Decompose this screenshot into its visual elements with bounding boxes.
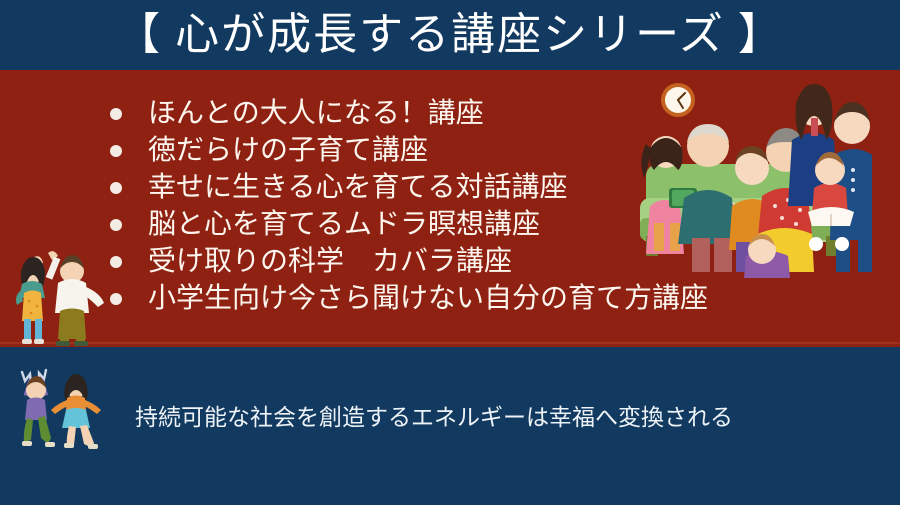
footer-caption: 持続可能な社会を創造するエネルギーは幸福へ変換される: [135, 406, 733, 429]
bullet-icon: [110, 145, 122, 157]
list-item[interactable]: 徳だらけの子育て講座: [110, 132, 708, 169]
list-item[interactable]: ほんとの大人になる！講座: [110, 95, 708, 132]
bullet-icon: [110, 108, 122, 120]
child-girl: [51, 374, 101, 449]
list-item[interactable]: 脳と心を育てるムドラ瞑想講座: [110, 206, 708, 243]
slide-canvas: 【 心が成長する講座シリーズ 】 ほんとの大人になる！講座 徳だらけの子育て講座…: [0, 0, 900, 505]
adult-man: [46, 251, 104, 346]
title-band: 【 心が成長する講座シリーズ 】: [0, 0, 900, 70]
child-boy: [22, 370, 55, 447]
wall-clock-icon: [661, 83, 695, 117]
two-adults-celebrating-illustration: [8, 243, 120, 347]
adult-woman: [16, 256, 45, 344]
family-on-sofa-illustration: [636, 78, 872, 278]
list-item-label: 徳だらけの子育て講座: [148, 137, 428, 165]
list-item[interactable]: 幸せに生きる心を育てる対話講座: [110, 169, 708, 206]
two-children-dancing-illustration: [14, 364, 110, 452]
course-list: ほんとの大人になる！講座 徳だらけの子育て講座 幸せに生きる心を育てる対話講座 …: [110, 95, 708, 317]
list-item-label: ほんとの大人になる！講座: [148, 100, 484, 128]
list-item-label: 小学生向け今さら聞けない自分の育て方講座: [148, 285, 708, 313]
bullet-icon: [110, 219, 122, 231]
band-hairline: [0, 342, 900, 344]
list-item[interactable]: 小学生向け今さら聞けない自分の育て方講座: [110, 280, 708, 317]
list-item-label: 受け取りの科学 カバラ講座: [148, 248, 512, 276]
list-item[interactable]: 受け取りの科学 カバラ講座: [110, 243, 708, 280]
bullet-icon: [110, 182, 122, 194]
page-title: 【 心が成長する講座シリーズ 】: [116, 13, 784, 57]
list-item-label: 脳と心を育てるムドラ瞑想講座: [148, 211, 540, 239]
list-item-label: 幸せに生きる心を育てる対話講座: [148, 174, 567, 202]
